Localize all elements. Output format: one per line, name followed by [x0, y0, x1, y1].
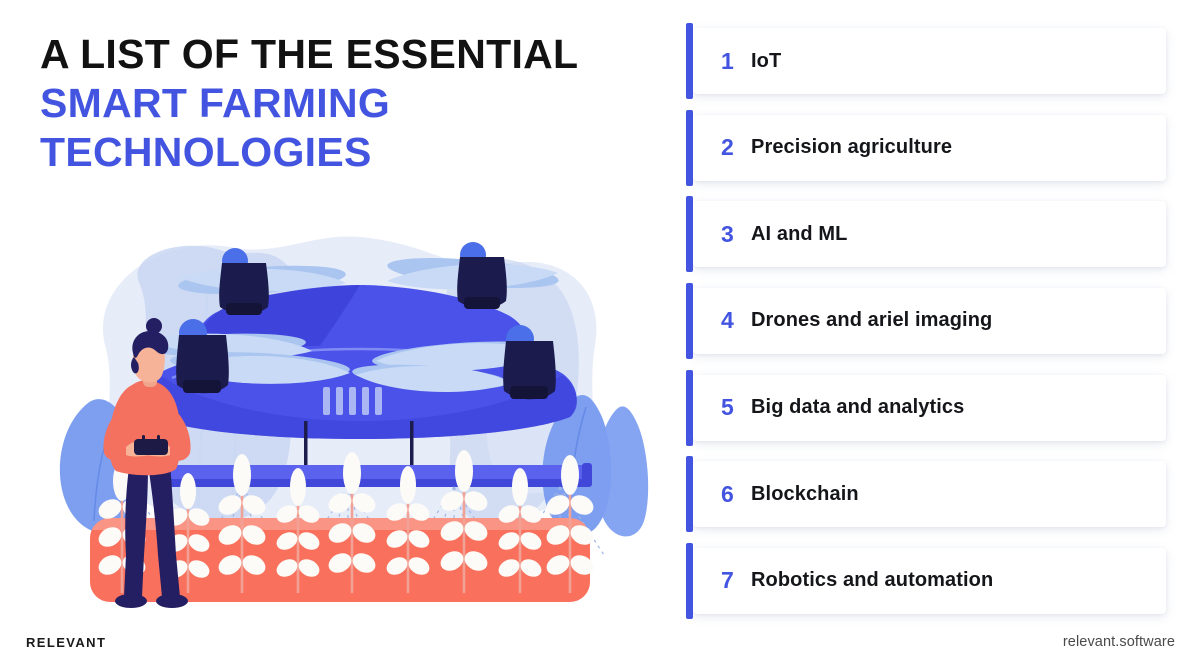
list-item[interactable]: 7 Robotics and automation — [693, 548, 1166, 614]
list-item-number: 5 — [693, 394, 751, 421]
row-accent-bar — [686, 23, 693, 99]
list-item-number: 4 — [693, 307, 751, 334]
list-item-label: Blockchain — [751, 483, 859, 506]
list-item[interactable]: 5 Big data and analytics — [693, 375, 1166, 441]
list-item[interactable]: 1 IoT — [693, 28, 1166, 94]
list-item-label: Big data and analytics — [751, 396, 964, 419]
list-item-label: AI and ML — [751, 223, 847, 246]
list-item[interactable]: 4 Drones and ariel imaging — [693, 288, 1166, 354]
technology-list: 1 IoT 2 Precision agriculture 3 AI and M… — [686, 28, 1166, 614]
list-item-number: 7 — [693, 567, 751, 594]
brand-logo: RELEVANT — [26, 635, 106, 650]
title-line-2: SMART FARMING — [40, 79, 650, 128]
row-accent-bar — [686, 543, 693, 619]
list-item-label: IoT — [751, 50, 781, 73]
list-item-label: Precision agriculture — [751, 136, 952, 159]
list-item-number: 3 — [693, 221, 751, 248]
website-url[interactable]: relevant.software — [1063, 634, 1175, 650]
row-accent-bar — [686, 283, 693, 359]
title-line-1: A LIST OF THE ESSENTIAL — [40, 30, 650, 79]
list-item[interactable]: 3 AI and ML — [693, 201, 1166, 267]
page-title: A LIST OF THE ESSENTIAL SMART FARMING TE… — [40, 30, 650, 177]
list-item-number: 2 — [693, 134, 751, 161]
title-line-3: TECHNOLOGIES — [40, 128, 650, 177]
drone-farming-illustration — [30, 225, 650, 610]
row-accent-bar — [686, 456, 693, 532]
list-item-number: 6 — [693, 481, 751, 508]
list-item-label: Drones and ariel imaging — [751, 309, 992, 332]
list-item-label: Robotics and automation — [751, 569, 993, 592]
row-accent-bar — [686, 196, 693, 272]
left-column: A LIST OF THE ESSENTIAL SMART FARMING TE… — [0, 0, 670, 670]
list-item[interactable]: 2 Precision agriculture — [693, 115, 1166, 181]
infographic-page: A LIST OF THE ESSENTIAL SMART FARMING TE… — [0, 0, 1200, 670]
row-accent-bar — [686, 110, 693, 186]
list-item-number: 1 — [693, 48, 751, 75]
row-accent-bar — [686, 370, 693, 446]
list-item[interactable]: 6 Blockchain — [693, 461, 1166, 527]
